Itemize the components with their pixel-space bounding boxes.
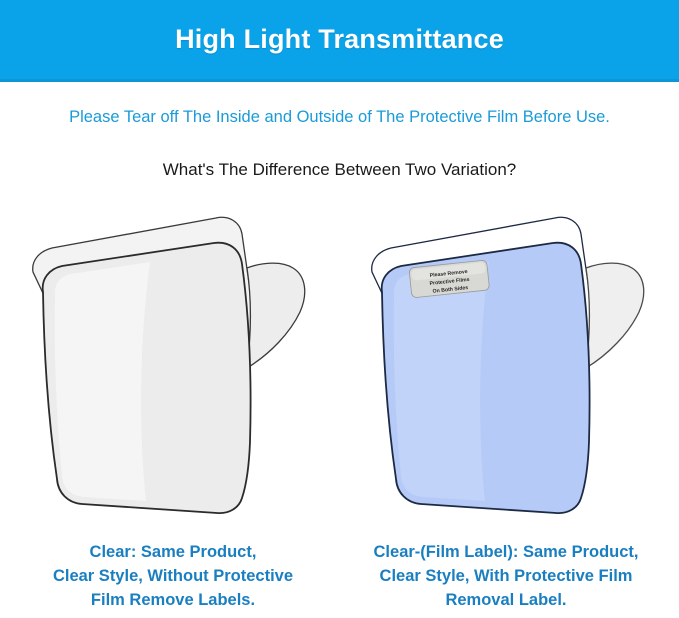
product-image-clear-film-label: Please Remove Protective Films On Both S…	[339, 196, 679, 536]
caption-clear-line-1: Clear: Same Product,	[8, 540, 338, 564]
clear-film-label-sheet-illustration: Please Remove Protective Films On Both S…	[339, 196, 679, 536]
clear-sheet-illustration	[0, 196, 340, 536]
caption-clear: Clear: Same Product, Clear Style, Withou…	[8, 540, 338, 612]
front-sheet-highlight	[55, 262, 150, 501]
page-title: High Light Transmittance	[175, 24, 504, 55]
question-text: What's The Difference Between Two Variat…	[0, 160, 679, 180]
caption-film-label-line-2: Clear Style, With Protective Film	[341, 564, 671, 588]
front-sheet-highlight	[394, 262, 489, 501]
caption-clear-film-label: Clear-(Film Label): Same Product, Clear …	[341, 540, 671, 612]
subheading-text: Please Tear off The Inside and Outside o…	[0, 108, 679, 127]
back-sheet-wing-shape	[586, 263, 644, 368]
caption-film-label-line-3: Removal Label.	[341, 588, 671, 612]
caption-film-label-line-1: Clear-(Film Label): Same Product,	[341, 540, 671, 564]
header-banner: High Light Transmittance	[0, 0, 679, 82]
product-comparison-row: Please Remove Protective Films On Both S…	[0, 196, 679, 536]
product-image-clear	[0, 196, 340, 536]
caption-clear-line-2: Clear Style, Without Protective	[8, 564, 338, 588]
product-captions-row: Clear: Same Product, Clear Style, Withou…	[0, 540, 679, 618]
back-sheet-wing-shape	[247, 263, 305, 368]
caption-clear-line-3: Film Remove Labels.	[8, 588, 338, 612]
